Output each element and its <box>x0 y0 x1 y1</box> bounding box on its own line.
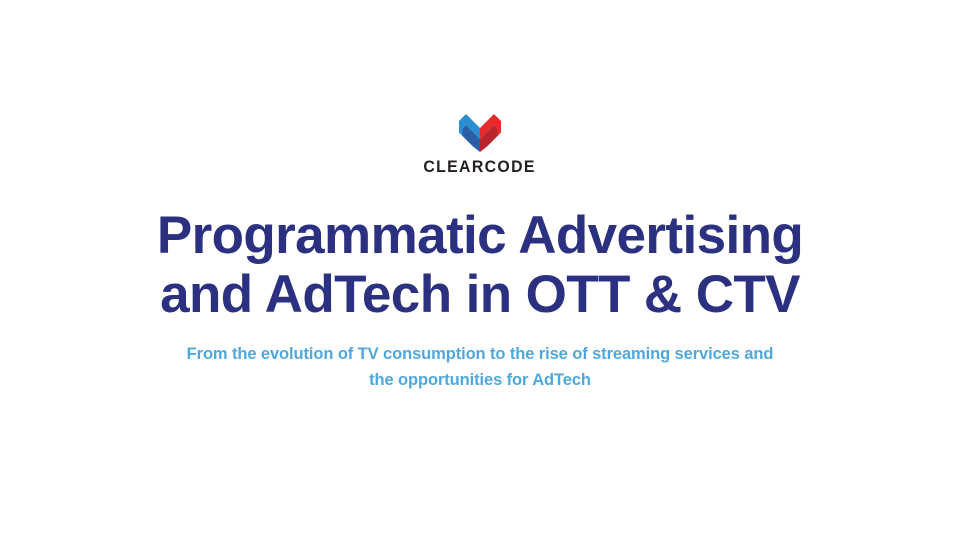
brand-logo: CLEARCODE <box>0 114 960 176</box>
title-slide: CLEARCODE Programmatic Advertising and A… <box>0 0 960 540</box>
subtitle-line-2: the opportunities for AdTech <box>130 367 830 393</box>
slide-title: Programmatic Advertising and AdTech in O… <box>50 206 910 324</box>
title-line-2: and AdTech in OTT & CTV <box>50 265 910 324</box>
brand-wordmark: CLEARCODE <box>424 159 536 176</box>
title-line-1: Programmatic Advertising <box>50 206 910 265</box>
subtitle-line-1: From the evolution of TV consumption to … <box>130 341 830 367</box>
clearcode-heart-logo-icon <box>459 114 501 152</box>
slide-subtitle: From the evolution of TV consumption to … <box>130 341 830 393</box>
